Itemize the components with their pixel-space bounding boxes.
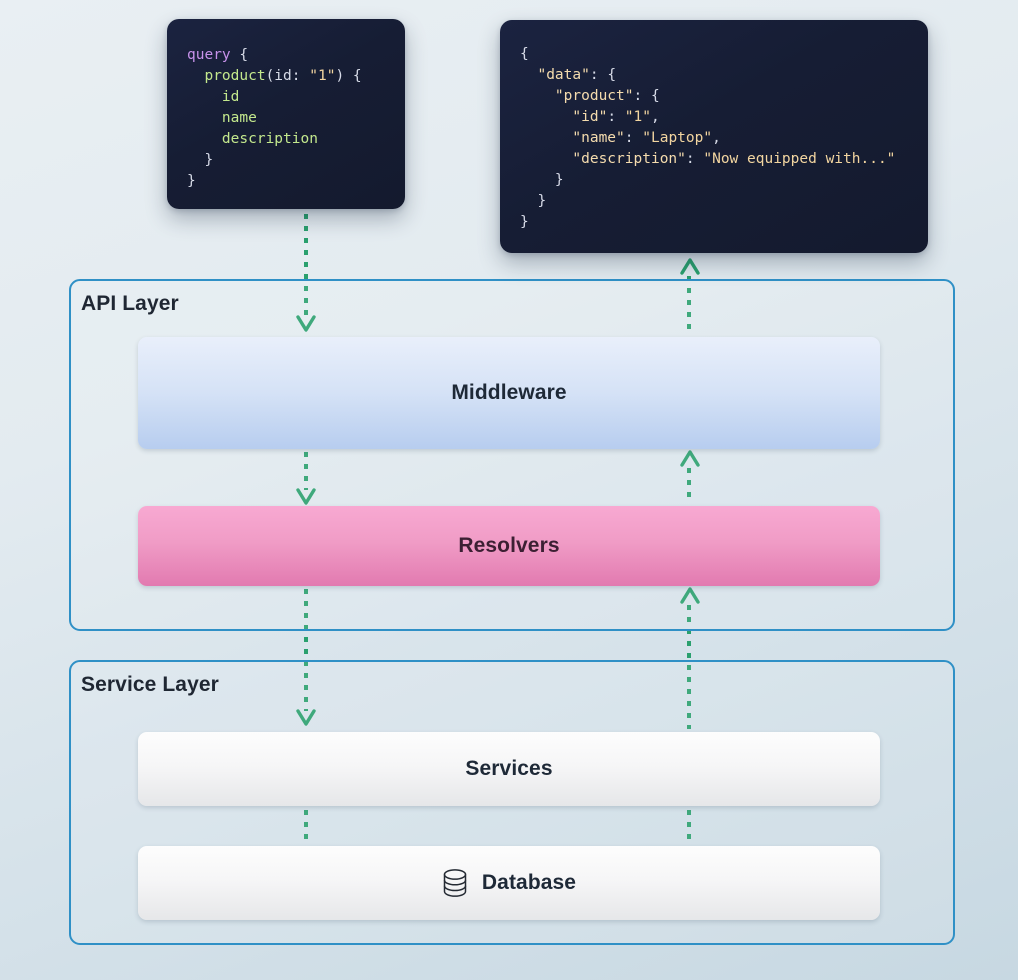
code-token: "Laptop" [642, 130, 712, 146]
code-line: "name": "Laptop", [520, 128, 908, 149]
code-token: } [555, 172, 564, 188]
code-line: id [187, 87, 385, 108]
node-resolvers-label: Resolvers [458, 534, 559, 558]
code-token: } [537, 193, 546, 209]
code-token: product [204, 68, 265, 84]
layer-api-title: API Layer [81, 292, 179, 316]
code-token: "description" [572, 151, 686, 167]
code-line: query { [187, 45, 385, 66]
flow-arrow-up-to-response [679, 256, 701, 276]
node-middleware[interactable]: Middleware [138, 337, 880, 449]
code-token: ) { [335, 68, 361, 84]
database-icon [442, 868, 468, 898]
node-database[interactable]: Database [138, 846, 880, 920]
node-services-label: Services [465, 757, 552, 781]
code-token: "id" [572, 109, 607, 125]
code-token: : [625, 130, 642, 146]
code-line: description [187, 129, 385, 150]
code-token: : [607, 109, 624, 125]
code-line: product(id: "1") { [187, 66, 385, 87]
graphql-query-panel: query { product(id: "1") { id name descr… [167, 19, 405, 209]
code-token: : { [590, 67, 616, 83]
code-token: } [204, 152, 213, 168]
code-token: : [686, 151, 703, 167]
code-line: { [520, 44, 908, 65]
diagram-canvas: API Layer Service Layer Middleware Resol… [0, 0, 1018, 980]
code-token: "Now equipped with..." [703, 151, 895, 167]
code-token: } [187, 173, 196, 189]
code-token: (id: [266, 68, 310, 84]
code-line: "description": "Now equipped with..." [520, 149, 908, 170]
code-token: , [712, 130, 721, 146]
code-line: name [187, 108, 385, 129]
code-line: } [520, 170, 908, 191]
code-token: description [222, 131, 318, 147]
code-token: "product" [555, 88, 634, 104]
code-line: } [520, 191, 908, 212]
layer-service-title: Service Layer [81, 673, 219, 697]
code-line: "data": { [520, 65, 908, 86]
node-database-label: Database [482, 871, 576, 895]
code-line: "id": "1", [520, 107, 908, 128]
node-services[interactable]: Services [138, 732, 880, 806]
code-line: "product": { [520, 86, 908, 107]
code-token: "name" [572, 130, 624, 146]
code-token: query [187, 47, 231, 63]
code-token: { [231, 47, 248, 63]
code-token: : { [634, 88, 660, 104]
code-token: , [651, 109, 660, 125]
code-token: "1" [309, 68, 335, 84]
code-token: name [222, 110, 257, 126]
code-line: } [187, 150, 385, 171]
graphql-response-panel: { "data": { "product": { "id": "1", "nam… [500, 20, 928, 253]
code-token: "data" [537, 67, 589, 83]
code-token: { [520, 46, 529, 62]
code-token: id [222, 89, 239, 105]
code-line: } [520, 212, 908, 233]
code-token: "1" [625, 109, 651, 125]
node-middleware-label: Middleware [451, 381, 566, 405]
node-resolvers[interactable]: Resolvers [138, 506, 880, 586]
code-line: } [187, 171, 385, 192]
code-token: } [520, 214, 529, 230]
